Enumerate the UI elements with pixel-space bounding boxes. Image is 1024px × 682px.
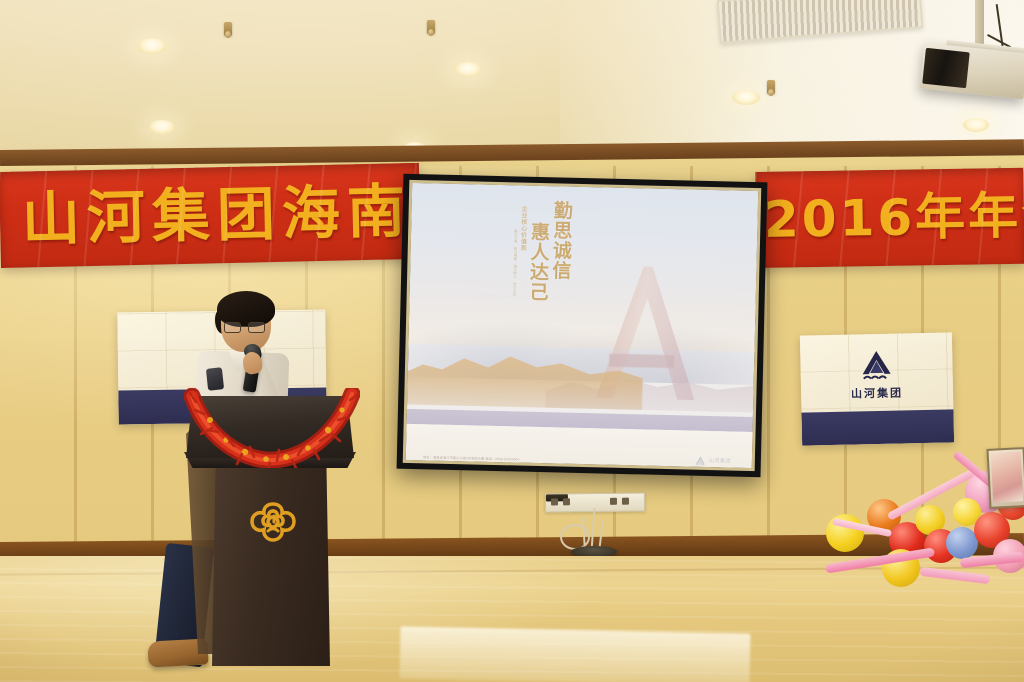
downlight-2 <box>149 120 175 134</box>
podium-body <box>212 466 330 666</box>
chinese-scroll-medallion-icon <box>248 500 298 552</box>
downlight-8 <box>963 118 989 132</box>
projection-screen: 地址：海南省海口市国兴大道5号海南大厦 电话：0898-00000000 山河集… <box>397 174 768 477</box>
shanhe-triangle-logo-icon <box>859 349 894 382</box>
slide-logo: 山河集团 <box>695 456 731 467</box>
outlet-port-4[interactable] <box>622 498 629 505</box>
downlight-1 <box>137 38 167 54</box>
calligraphy-column-left: 惠人达己 <box>526 222 549 356</box>
banner-left-text: 山河集团海南 <box>0 182 413 249</box>
outlet-port-2[interactable] <box>563 498 570 505</box>
slide-a-frame-crossbar <box>609 354 675 368</box>
poster-band-right <box>801 409 954 445</box>
slide-footer-bar: 地址：海南省海口市国兴大道5号海南大厦 电话：0898-00000000 山河集… <box>406 424 753 468</box>
conference-hall-photo: 山河集团海南 2016年年会 地址：海南省海口市国兴大道5号海南大厦 电话：08… <box>0 0 1024 682</box>
sprinkler-head-3 <box>767 80 775 94</box>
poster-logo-text: 山河集团 <box>851 385 903 402</box>
glasses-lens-right <box>248 322 265 333</box>
framed-picture-easel <box>986 447 1024 509</box>
outlet-port-1[interactable] <box>551 498 558 505</box>
shanhe-triangle-logo-icon <box>695 456 706 466</box>
banner-right: 2016年年会 <box>755 168 1024 268</box>
banner-left: 山河集团海南 <box>0 163 421 268</box>
calligraphy-tiny-column: 勤以立身 思以明智 诚以待人 信以立业 <box>510 229 517 354</box>
speaker-glasses-icon <box>224 322 268 333</box>
slide-logo-text: 山河集团 <box>709 457 731 465</box>
glasses-bridge <box>241 326 248 327</box>
calligraphy-column-right: 勤思诚信 <box>548 200 571 356</box>
calligraphy-side-note: 企业核心价值观 <box>517 205 527 354</box>
speaker-badge-clip <box>206 367 224 391</box>
projector-lens-icon <box>922 48 970 88</box>
slide-calligraphy: 勤思诚信 惠人达己 企业核心价值观 勤以立身 思以明智 诚以待人 信以立业 <box>464 198 571 356</box>
outlet-port-3[interactable] <box>610 498 617 505</box>
downlight-6 <box>732 90 760 105</box>
sprinkler-head-2 <box>427 20 435 34</box>
wall-poster-right: 山河集团 <box>800 332 954 445</box>
podium-top <box>186 396 354 458</box>
poster-logo-block: 山河集团 <box>800 348 953 403</box>
sprinkler-head-1 <box>224 22 232 36</box>
easel-picture <box>991 451 1024 503</box>
glasses-lens-left <box>224 322 241 333</box>
screen-reflection-on-floor <box>399 626 750 682</box>
downlight-4 <box>454 62 482 77</box>
banner-right-text: 2016年年会 <box>756 190 1024 245</box>
projection-screen-surface: 地址：海南省海口市国兴大道5号海南大厦 电话：0898-00000000 山河集… <box>403 180 762 471</box>
slide-footer-text: 地址：海南省海口市国兴大道5号海南大厦 电话：0898-00000000 <box>423 454 520 461</box>
